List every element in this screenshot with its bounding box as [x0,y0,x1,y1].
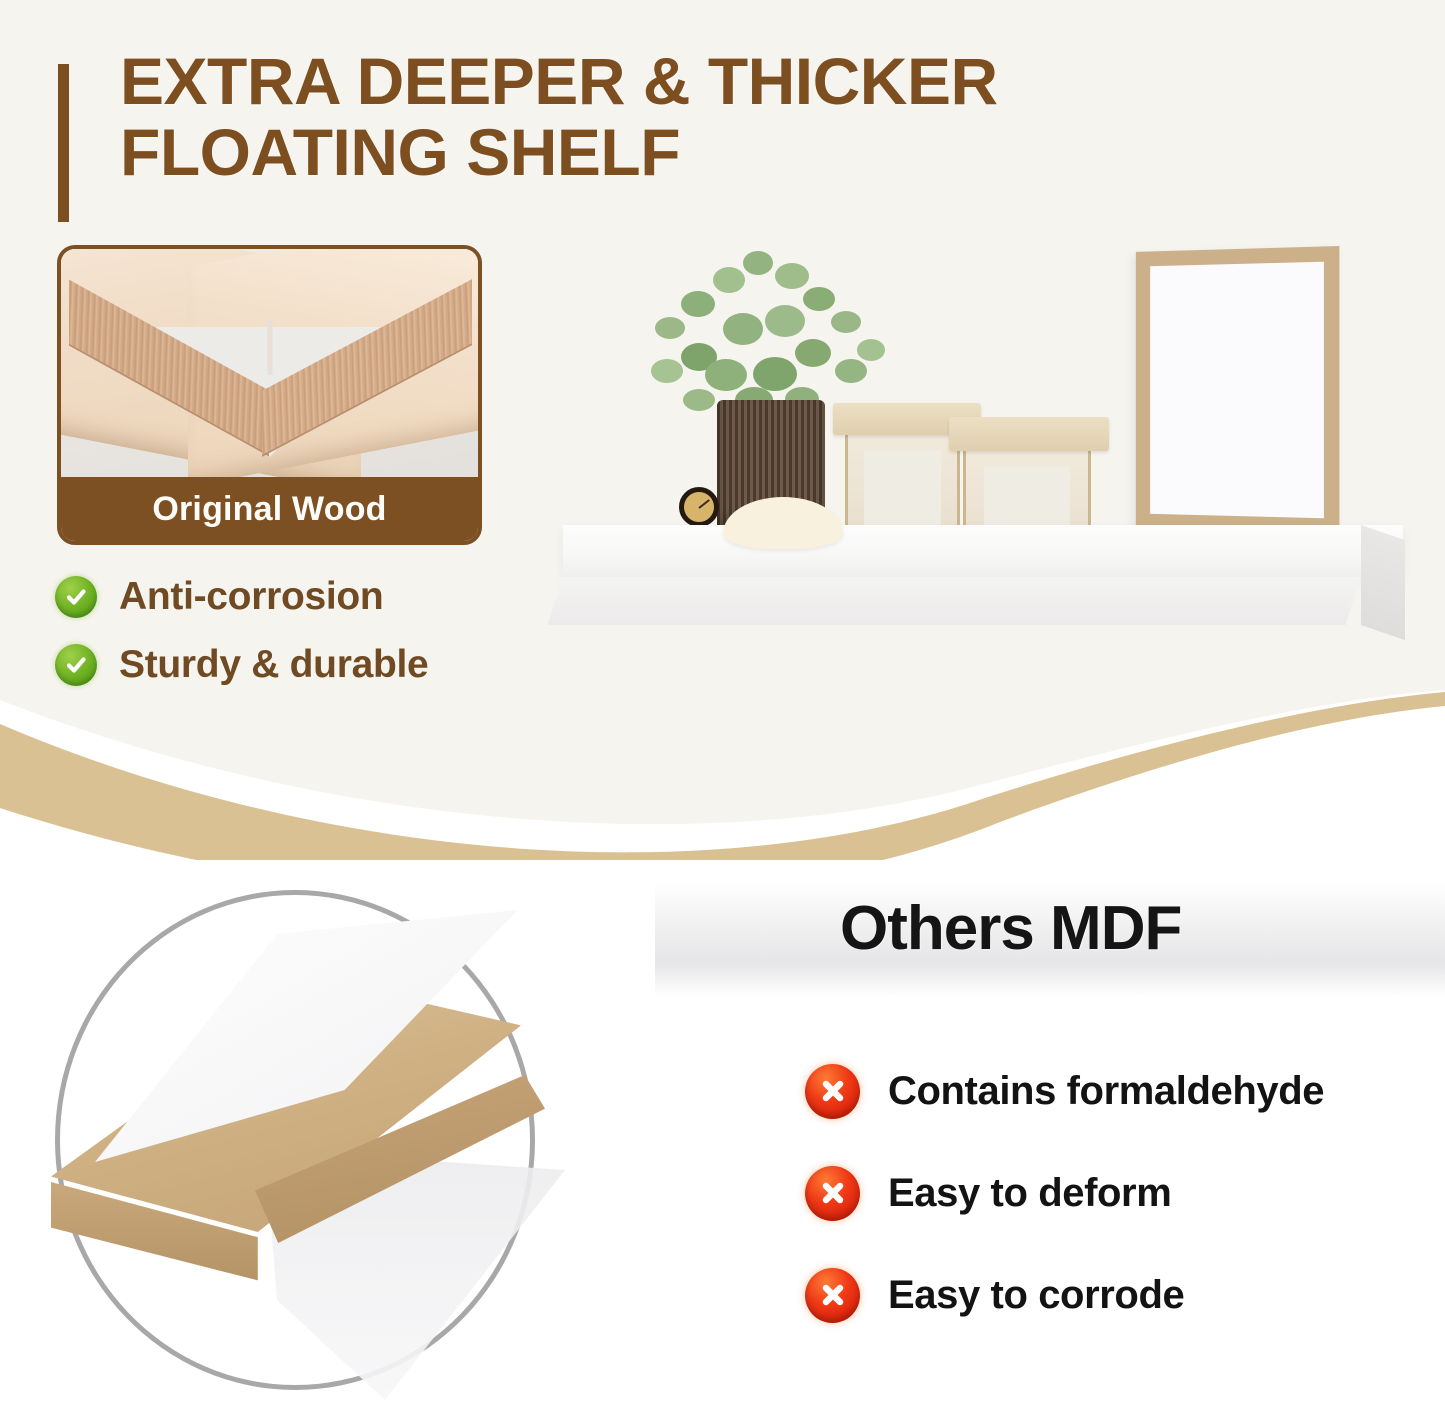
cons-item-label: Contains formaldehyde [888,1069,1324,1114]
top-comparison-section: EXTRA DEEPER & THICKERFLOATING SHELF Ori… [0,0,1445,880]
wood-picture-frame [1136,246,1340,534]
pros-item-label: Anti-corrosion [119,575,383,619]
wave-divider [0,690,1445,880]
wood-plank-photo [61,249,478,481]
original-wood-banner: Original Wood [61,477,478,541]
check-circle-icon [55,576,97,618]
eucalyptus-plant [635,247,915,422]
white-floating-shelf-front [547,577,1361,625]
cons-item-label: Easy to deform [888,1171,1171,1216]
floating-shelf-product-photo [545,235,1445,650]
page-title: EXTRA DEEPER & THICKERFLOATING SHELF [120,46,998,189]
white-floating-shelf-top [563,525,1403,577]
x-circle-icon [805,1166,860,1221]
original-wood-card: Original Wood [57,245,482,545]
mdf-board-illustration [25,880,665,1400]
original-wood-label: Original Wood [152,490,386,529]
x-circle-icon [805,1064,860,1119]
headline-line-2: FLOATING SHELF [120,115,680,189]
wood-seam [267,319,272,375]
bottom-comparison-section: Others MDF Contains formaldehyde Easy to… [0,860,1445,1402]
list-item: Contains formaldehyde [805,1062,1405,1120]
white-floating-shelf-side [1361,525,1405,640]
list-item: Easy to corrode [805,1266,1405,1324]
mdf-section-title: Others MDF [840,893,1181,964]
small-round-clock [679,487,719,527]
cons-list: Contains formaldehyde Easy to deform Eas… [805,1062,1405,1368]
x-circle-icon [805,1268,860,1323]
pros-item-label: Sturdy & durable [119,643,428,687]
headline-accent-bar [58,64,69,222]
headline-line-1: EXTRA DEEPER & THICKER [120,44,998,118]
check-circle-icon [55,644,97,686]
list-item: Easy to deform [805,1164,1405,1222]
cons-item-label: Easy to corrode [888,1273,1184,1318]
wooden-jar-lid-right [949,417,1109,451]
infographic-page: EXTRA DEEPER & THICKERFLOATING SHELF Ori… [0,0,1445,1402]
wooden-lidded-jar-left [845,431,960,536]
